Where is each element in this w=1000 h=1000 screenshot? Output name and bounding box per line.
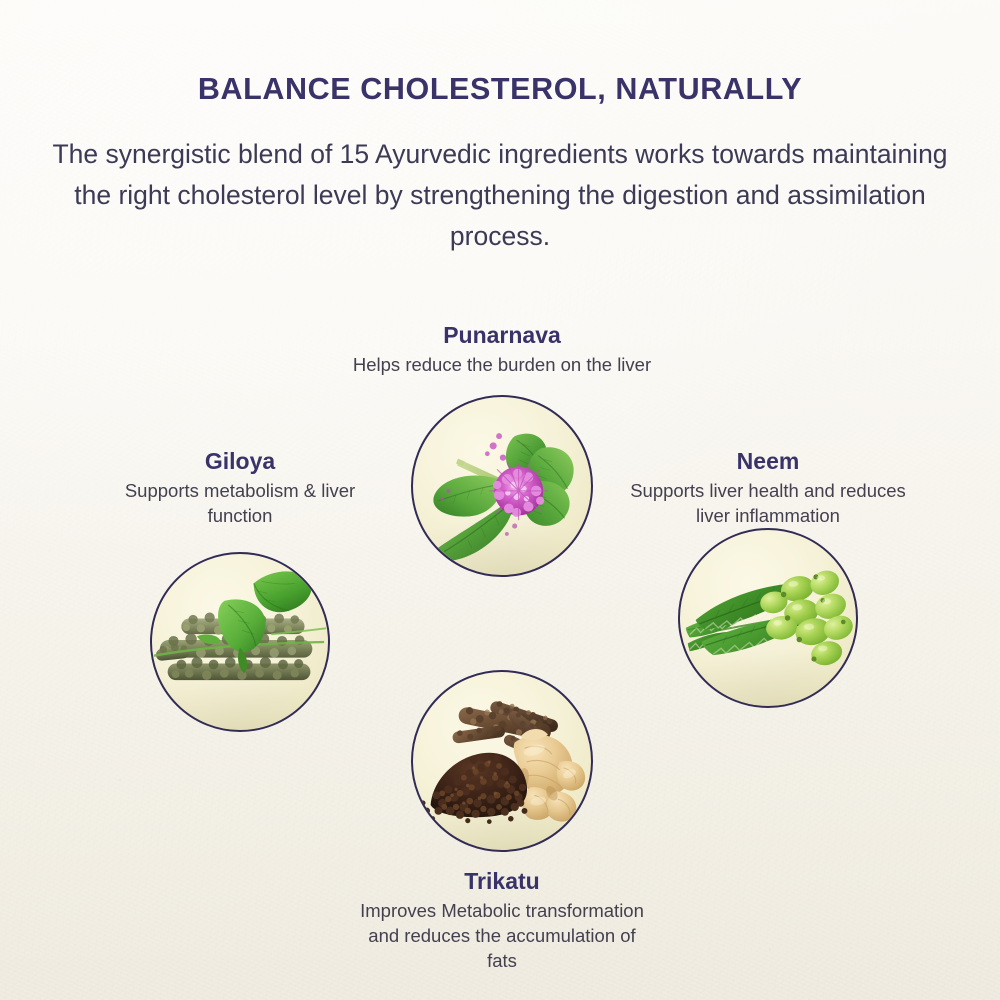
ingredient-name-giloya: Giloya — [90, 446, 390, 476]
ingredient-name-neem: Neem — [618, 446, 918, 476]
giloya-stems-image — [150, 552, 330, 732]
ingredient-description-giloya: Supports metabolism & liver function — [90, 478, 390, 528]
neem-leaves-fruit-image — [678, 528, 858, 708]
ingredient-card-neem: Neem Supports liver health and reduces l… — [618, 446, 918, 708]
ingredient-card-giloya: Giloya Supports metabolism & liver funct… — [90, 446, 390, 732]
trikatu-spices-image — [411, 670, 593, 852]
ingredient-description-neem: Supports liver health and reduces liver … — [618, 478, 918, 528]
ingredient-description-punarnava: Helps reduce the burden on the liver — [352, 352, 652, 377]
punarnava-plant-image — [411, 395, 593, 577]
ingredient-card-trikatu: Trikatu Improves Metabolic transformatio… — [352, 670, 652, 973]
page-subtitle: The synergistic blend of 15 Ayurvedic in… — [50, 107, 950, 257]
ingredient-label-trikatu: Trikatu Improves Metabolic transformatio… — [352, 866, 652, 973]
ingredient-description-trikatu: Improves Metabolic transformation and re… — [352, 898, 652, 973]
page-title: BALANCE CHOLESTEROL, NATURALLY — [0, 0, 1000, 107]
ingredient-name-punarnava: Punarnava — [352, 320, 652, 350]
ingredient-label-punarnava: Punarnava Helps reduce the burden on the… — [352, 320, 652, 377]
ingredient-label-neem: Neem Supports liver health and reduces l… — [618, 446, 918, 528]
ingredient-card-punarnava: Punarnava Helps reduce the burden on the… — [352, 320, 652, 577]
header-block: BALANCE CHOLESTEROL, NATURALLY The syner… — [0, 0, 1000, 257]
ingredient-label-giloya: Giloya Supports metabolism & liver funct… — [90, 446, 390, 528]
ingredient-name-trikatu: Trikatu — [352, 866, 652, 896]
